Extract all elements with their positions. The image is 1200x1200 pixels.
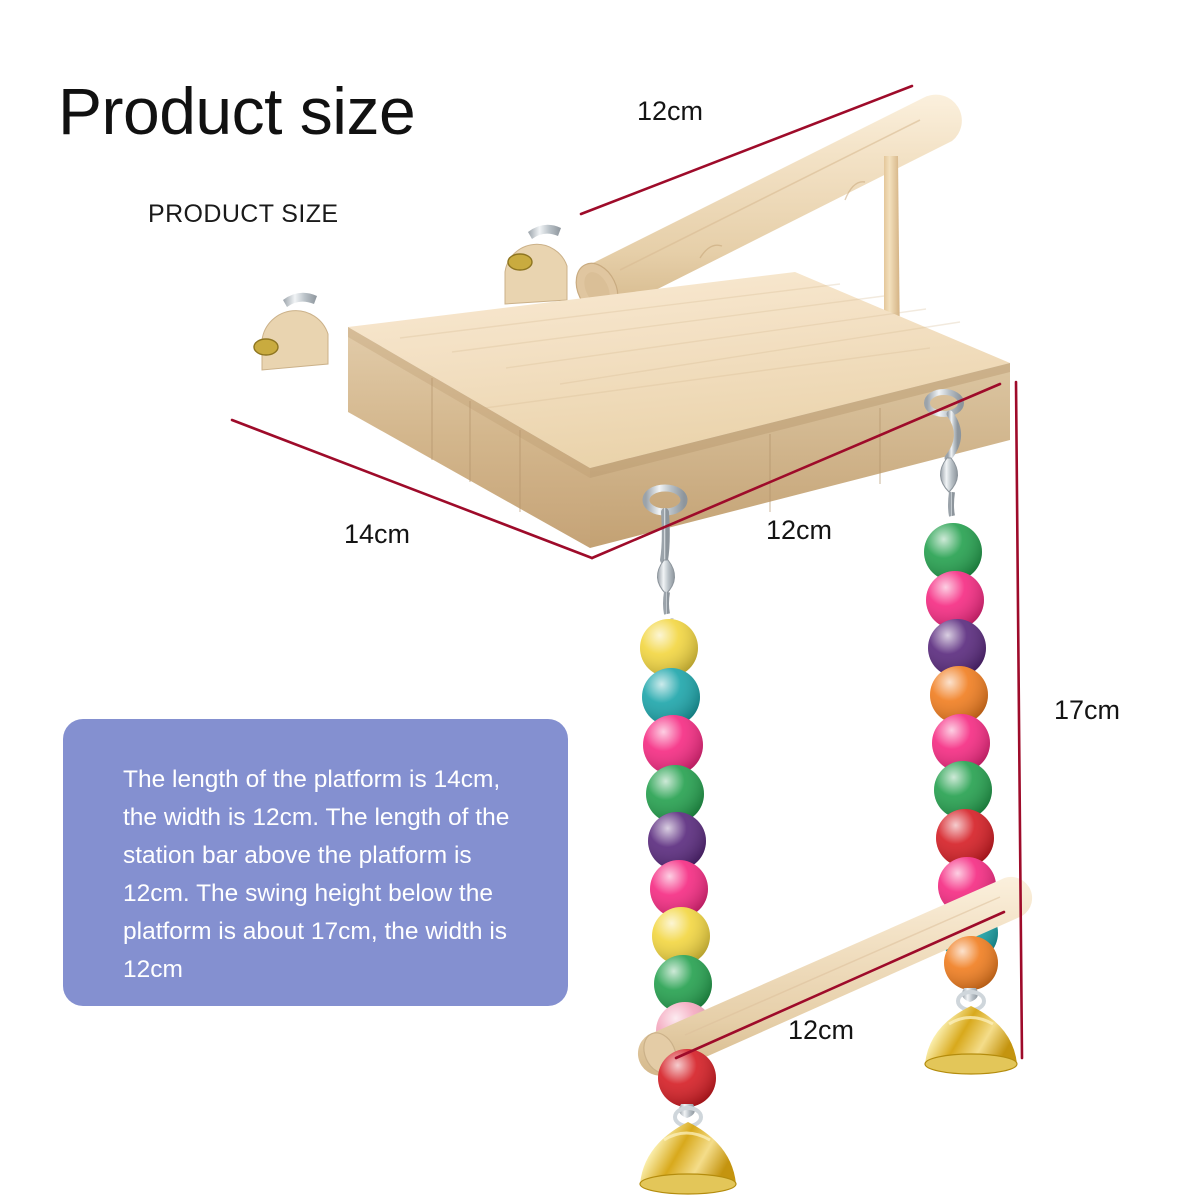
page-subtitle: PRODUCT SIZE [148,200,338,229]
bead-string-right-lower [944,936,998,990]
bead [658,1049,716,1107]
bead [944,936,998,990]
dimension-label-platform-length: 14cm [344,519,410,550]
bead-string-left-lower [658,1049,716,1107]
dimension-label-platform-width: 12cm [766,515,832,546]
product-photo [0,0,1200,1200]
page-title: Product size [58,78,415,144]
product-size-infographic: Product size PRODUCT SIZE The length of … [0,0,1200,1200]
description-callout-box: The length of the platform is 14cm, the … [63,719,568,1006]
bead-string-left [640,618,714,1060]
dimension-label-station-bar: 12cm [637,96,703,127]
description-text: The length of the platform is 14cm, the … [123,761,523,989]
bell-right [925,988,1017,1074]
dim-line-swing-height [1016,382,1022,1058]
dimension-label-swing-bar-width: 12cm [788,1015,854,1046]
bell-left [640,1104,736,1194]
dimension-label-swing-height: 17cm [1054,695,1120,726]
